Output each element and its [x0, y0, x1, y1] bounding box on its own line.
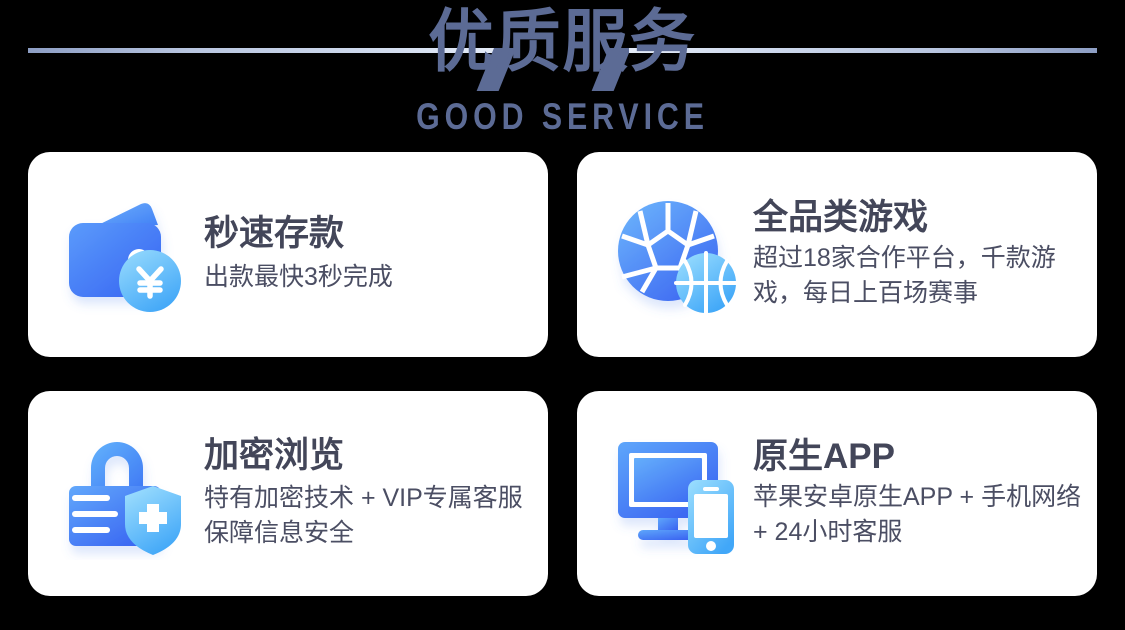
page-title: 优质服务 [23, 8, 1103, 76]
card-title: 秒速存款 [204, 214, 534, 253]
page-subtitle: GOOD SERVICE [101, 98, 1024, 135]
feature-card-encryption[interactable]: 加密浏览 特有加密技术 + VIP专属客服保障信息安全 [28, 391, 548, 596]
card-subtitle: 特有加密技术 + VIP专属客服保障信息安全 [204, 481, 534, 551]
card-text: 秒速存款 出款最快3秒完成 [200, 214, 534, 294]
monitor-phone-icon [603, 419, 749, 569]
card-title: 全品类游戏 [753, 198, 1083, 237]
card-subtitle: 苹果安卓原生APP + 手机网络 + 24小时客服 [753, 480, 1083, 550]
card-text: 全品类游戏 超过18家合作平台，千款游戏，每日上百场赛事 [749, 198, 1083, 311]
card-title: 原生APP [753, 437, 1083, 476]
lock-shield-icon [54, 419, 200, 569]
feature-card-native-app[interactable]: 原生APP 苹果安卓原生APP + 手机网络 + 24小时客服 [577, 391, 1097, 596]
feature-card-games[interactable]: 全品类游戏 超过18家合作平台，千款游戏，每日上百场赛事 [577, 152, 1097, 357]
card-title: 加密浏览 [204, 436, 534, 475]
page-header: 优质服务 GOOD SERVICE [0, 0, 1125, 148]
card-subtitle: 出款最快3秒完成 [204, 260, 534, 295]
soccer-basketball-icon [603, 180, 749, 330]
page-root: 优质服务 GOOD SERVICE [0, 0, 1125, 630]
feature-card-deposit[interactable]: 秒速存款 出款最快3秒完成 [28, 152, 548, 357]
card-subtitle: 超过18家合作平台，千款游戏，每日上百场赛事 [753, 241, 1083, 311]
card-text: 加密浏览 特有加密技术 + VIP专属客服保障信息安全 [200, 436, 534, 551]
wallet-yen-icon [54, 180, 200, 330]
feature-card-grid: 秒速存款 出款最快3秒完成 [28, 152, 1097, 596]
card-text: 原生APP 苹果安卓原生APP + 手机网络 + 24小时客服 [749, 437, 1083, 550]
